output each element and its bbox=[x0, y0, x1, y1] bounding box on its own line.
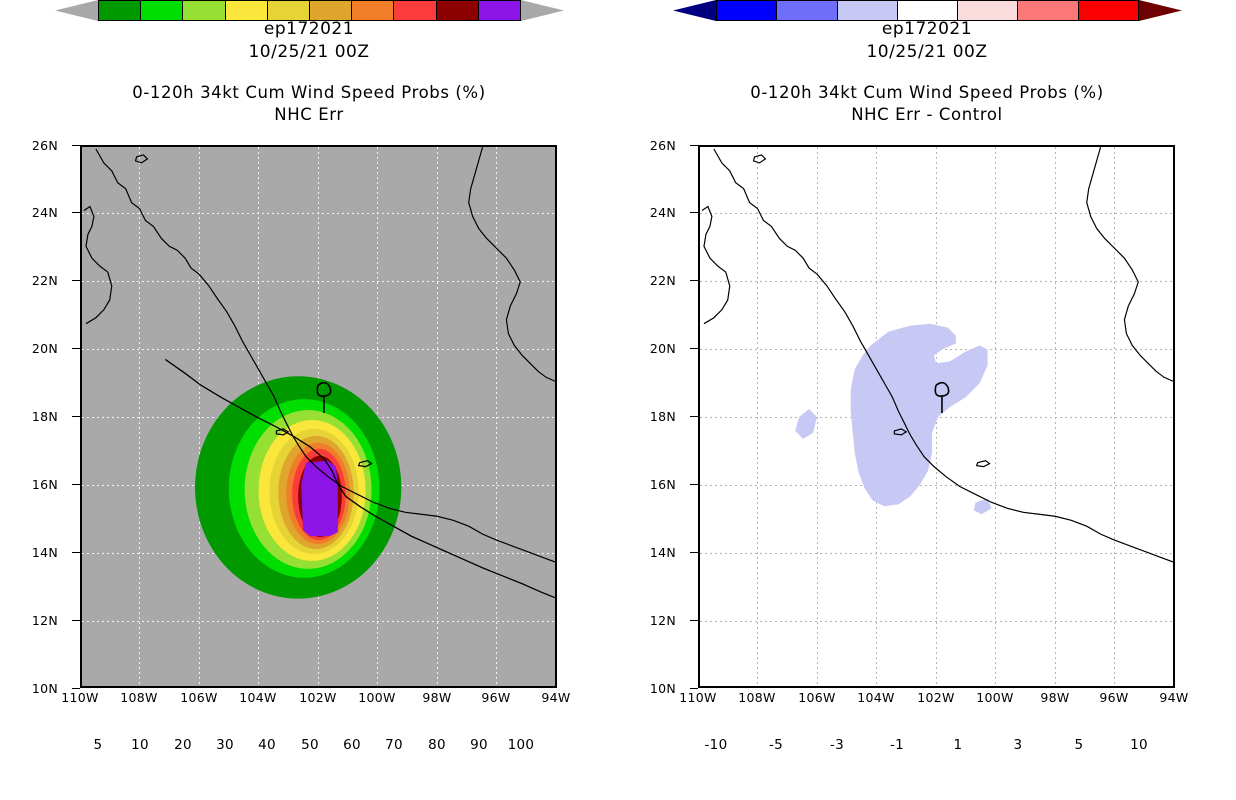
colorbar-swatch-neg3-neg1 bbox=[838, 1, 898, 20]
colorbar-swatch-70-80 bbox=[394, 1, 436, 20]
colorbar-swatch-5-10 bbox=[1079, 1, 1138, 20]
panel-nhc-err-minus-control: ep172021 10/25/21 00Z 0-120h 34kt Cum Wi… bbox=[618, 0, 1236, 800]
chart-title-right: 0-120h 34kt Cum Wind Speed Probs (%) bbox=[618, 82, 1236, 104]
map-inner-right bbox=[700, 147, 1173, 686]
x-tick-label: 98W bbox=[1032, 690, 1078, 705]
difference-contours-right bbox=[700, 147, 1173, 686]
y-tick-label: 10N bbox=[10, 681, 58, 696]
y-tick-label: 14N bbox=[628, 545, 676, 560]
colorbar-under-arrow-right bbox=[673, 0, 716, 21]
y-tick-mark bbox=[690, 145, 698, 146]
baja-east-coast bbox=[702, 207, 730, 324]
colorbar-label: 5 bbox=[1057, 737, 1101, 753]
y-tick-mark bbox=[690, 280, 698, 281]
x-tick-label: 106W bbox=[176, 690, 222, 705]
x-tick-label: 108W bbox=[116, 690, 162, 705]
colorbar-probability[interactable] bbox=[98, 0, 521, 21]
colorbar-label: 80 bbox=[415, 737, 459, 753]
x-tick-label: 102W bbox=[913, 690, 959, 705]
y-tick-mark bbox=[72, 348, 80, 349]
chart-title-left: 0-120h 34kt Cum Wind Speed Probs (%) bbox=[0, 82, 618, 104]
y-tick-mark bbox=[72, 688, 80, 689]
y-tick-label: 20N bbox=[10, 341, 58, 356]
colorbar-swatch-3-5 bbox=[1018, 1, 1078, 20]
x-tick-label: 96W bbox=[1091, 690, 1137, 705]
y-tick-mark bbox=[72, 212, 80, 213]
gulf-coast bbox=[1087, 147, 1139, 282]
colorbar-swatch-30-40 bbox=[226, 1, 268, 20]
gulf-coast-lower bbox=[506, 282, 555, 381]
datetime-left: 10/25/21 00Z bbox=[0, 41, 618, 64]
y-tick-mark bbox=[690, 484, 698, 485]
colorbar-swatch-neg10-neg5 bbox=[717, 1, 777, 20]
colorbar-swatch-neg5-neg3 bbox=[777, 1, 837, 20]
y-tick-label: 26N bbox=[628, 138, 676, 153]
colorbar-swatch-neg1-1 bbox=[898, 1, 958, 20]
y-tick-label: 16N bbox=[10, 477, 58, 492]
y-tick-mark bbox=[690, 212, 698, 213]
chart-subtitle-right: NHC Err - Control bbox=[618, 104, 1236, 126]
colorbar-label: 3 bbox=[996, 737, 1040, 753]
colorbar-swatch-60-70 bbox=[352, 1, 394, 20]
y-tick-label: 16N bbox=[628, 477, 676, 492]
x-tick-label: 108W bbox=[734, 690, 780, 705]
y-tick-mark bbox=[72, 416, 80, 417]
colorbar-difference[interactable] bbox=[716, 0, 1139, 21]
y-tick-label: 12N bbox=[10, 613, 58, 628]
colorbar-label: 50 bbox=[288, 737, 332, 753]
y-tick-mark bbox=[72, 552, 80, 553]
x-tick-label: 104W bbox=[235, 690, 281, 705]
y-tick-label: 18N bbox=[10, 409, 58, 424]
colorbar-label: 5 bbox=[76, 737, 120, 753]
contour-bands bbox=[195, 376, 401, 598]
colorbar-over-arrow-right bbox=[1139, 0, 1182, 21]
y-tick-mark bbox=[690, 552, 698, 553]
x-tick-label: 98W bbox=[414, 690, 460, 705]
y-tick-mark bbox=[690, 416, 698, 417]
y-tick-mark bbox=[72, 484, 80, 485]
colorbar-swatch-20-30 bbox=[183, 1, 225, 20]
y-tick-label: 10N bbox=[628, 681, 676, 696]
baja-peninsula-coast bbox=[714, 149, 817, 274]
island-small-3 bbox=[136, 155, 148, 163]
colorbar-label: 90 bbox=[457, 737, 501, 753]
x-tick-label: 106W bbox=[794, 690, 840, 705]
y-tick-mark bbox=[72, 280, 80, 281]
y-tick-mark bbox=[690, 620, 698, 621]
colorbar-swatch-5-10 bbox=[99, 1, 141, 20]
chart-subtitle-left: NHC Err bbox=[0, 104, 618, 126]
y-tick-mark bbox=[690, 688, 698, 689]
colorbar-label: -5 bbox=[754, 737, 798, 753]
y-tick-label: 24N bbox=[10, 205, 58, 220]
y-tick-mark bbox=[72, 145, 80, 146]
colorbar-label: -3 bbox=[815, 737, 859, 753]
coastline-right bbox=[702, 147, 1173, 562]
y-tick-label: 22N bbox=[628, 273, 676, 288]
y-tick-mark bbox=[690, 348, 698, 349]
map-nhc-err-minus-control[interactable] bbox=[698, 145, 1175, 688]
colorbar-swatch-80-90 bbox=[437, 1, 479, 20]
baja-peninsula-coast bbox=[96, 149, 199, 274]
datetime-right: 10/25/21 00Z bbox=[618, 41, 1236, 64]
y-tick-label: 24N bbox=[628, 205, 676, 220]
island-small-2 bbox=[977, 461, 990, 467]
difference-band-satellite-west bbox=[795, 409, 817, 439]
colorbar-over-arrow-left bbox=[521, 0, 564, 21]
colorbar-label: 30 bbox=[203, 737, 247, 753]
x-tick-label: 100W bbox=[354, 690, 400, 705]
colorbar-swatch-40-50 bbox=[268, 1, 310, 20]
x-tick-label: 110W bbox=[57, 690, 103, 705]
colorbar-label: 60 bbox=[330, 737, 374, 753]
colorbar-swatch-10-20 bbox=[141, 1, 183, 20]
colorbar-swatch-90-100 bbox=[479, 1, 520, 20]
colorbar-label: 1 bbox=[936, 737, 980, 753]
storm-id-left: ep172021 bbox=[0, 18, 618, 41]
colorbar-label: 10 bbox=[1117, 737, 1161, 753]
panel-nhc-err: ep172021 10/25/21 00Z 0-120h 34kt Cum Wi… bbox=[0, 0, 618, 800]
y-tick-label: 18N bbox=[628, 409, 676, 424]
x-tick-label: 100W bbox=[972, 690, 1018, 705]
difference-band-neg3-neg1-main bbox=[851, 324, 988, 507]
x-tick-label: 104W bbox=[853, 690, 899, 705]
baja-east-coast bbox=[84, 207, 112, 324]
y-tick-label: 14N bbox=[10, 545, 58, 560]
y-tick-label: 12N bbox=[628, 613, 676, 628]
probability-contours-left bbox=[82, 147, 555, 686]
x-tick-label: 94W bbox=[533, 690, 579, 705]
x-tick-label: 102W bbox=[295, 690, 341, 705]
y-tick-label: 26N bbox=[10, 138, 58, 153]
colorbar-label: 20 bbox=[161, 737, 205, 753]
map-inner-left bbox=[82, 147, 555, 686]
colorbar-under-arrow-left bbox=[55, 0, 98, 21]
colorbar-label: 100 bbox=[499, 737, 543, 753]
map-nhc-err[interactable] bbox=[80, 145, 557, 688]
gulf-coast-lower bbox=[1124, 282, 1173, 381]
island-small-3 bbox=[754, 155, 766, 163]
x-tick-label: 94W bbox=[1151, 690, 1197, 705]
y-tick-mark bbox=[72, 620, 80, 621]
x-tick-label: 96W bbox=[473, 690, 519, 705]
x-tick-label: 110W bbox=[675, 690, 721, 705]
gulf-coast bbox=[469, 147, 521, 282]
colorbar-swatch-50-60 bbox=[310, 1, 352, 20]
colorbar-swatch-1-3 bbox=[958, 1, 1018, 20]
colorbar-label: 70 bbox=[372, 737, 416, 753]
y-tick-label: 20N bbox=[628, 341, 676, 356]
colorbar-label: 40 bbox=[245, 737, 289, 753]
difference-bands bbox=[795, 324, 991, 515]
colorbar-label: -10 bbox=[694, 737, 738, 753]
storm-id-right: ep172021 bbox=[618, 18, 1236, 41]
wind-speed-probability-figure: ep172021 10/25/21 00Z 0-120h 34kt Cum Wi… bbox=[0, 0, 1236, 800]
colorbar-label: 10 bbox=[118, 737, 162, 753]
colorbar-label: -1 bbox=[875, 737, 919, 753]
y-tick-label: 22N bbox=[10, 273, 58, 288]
